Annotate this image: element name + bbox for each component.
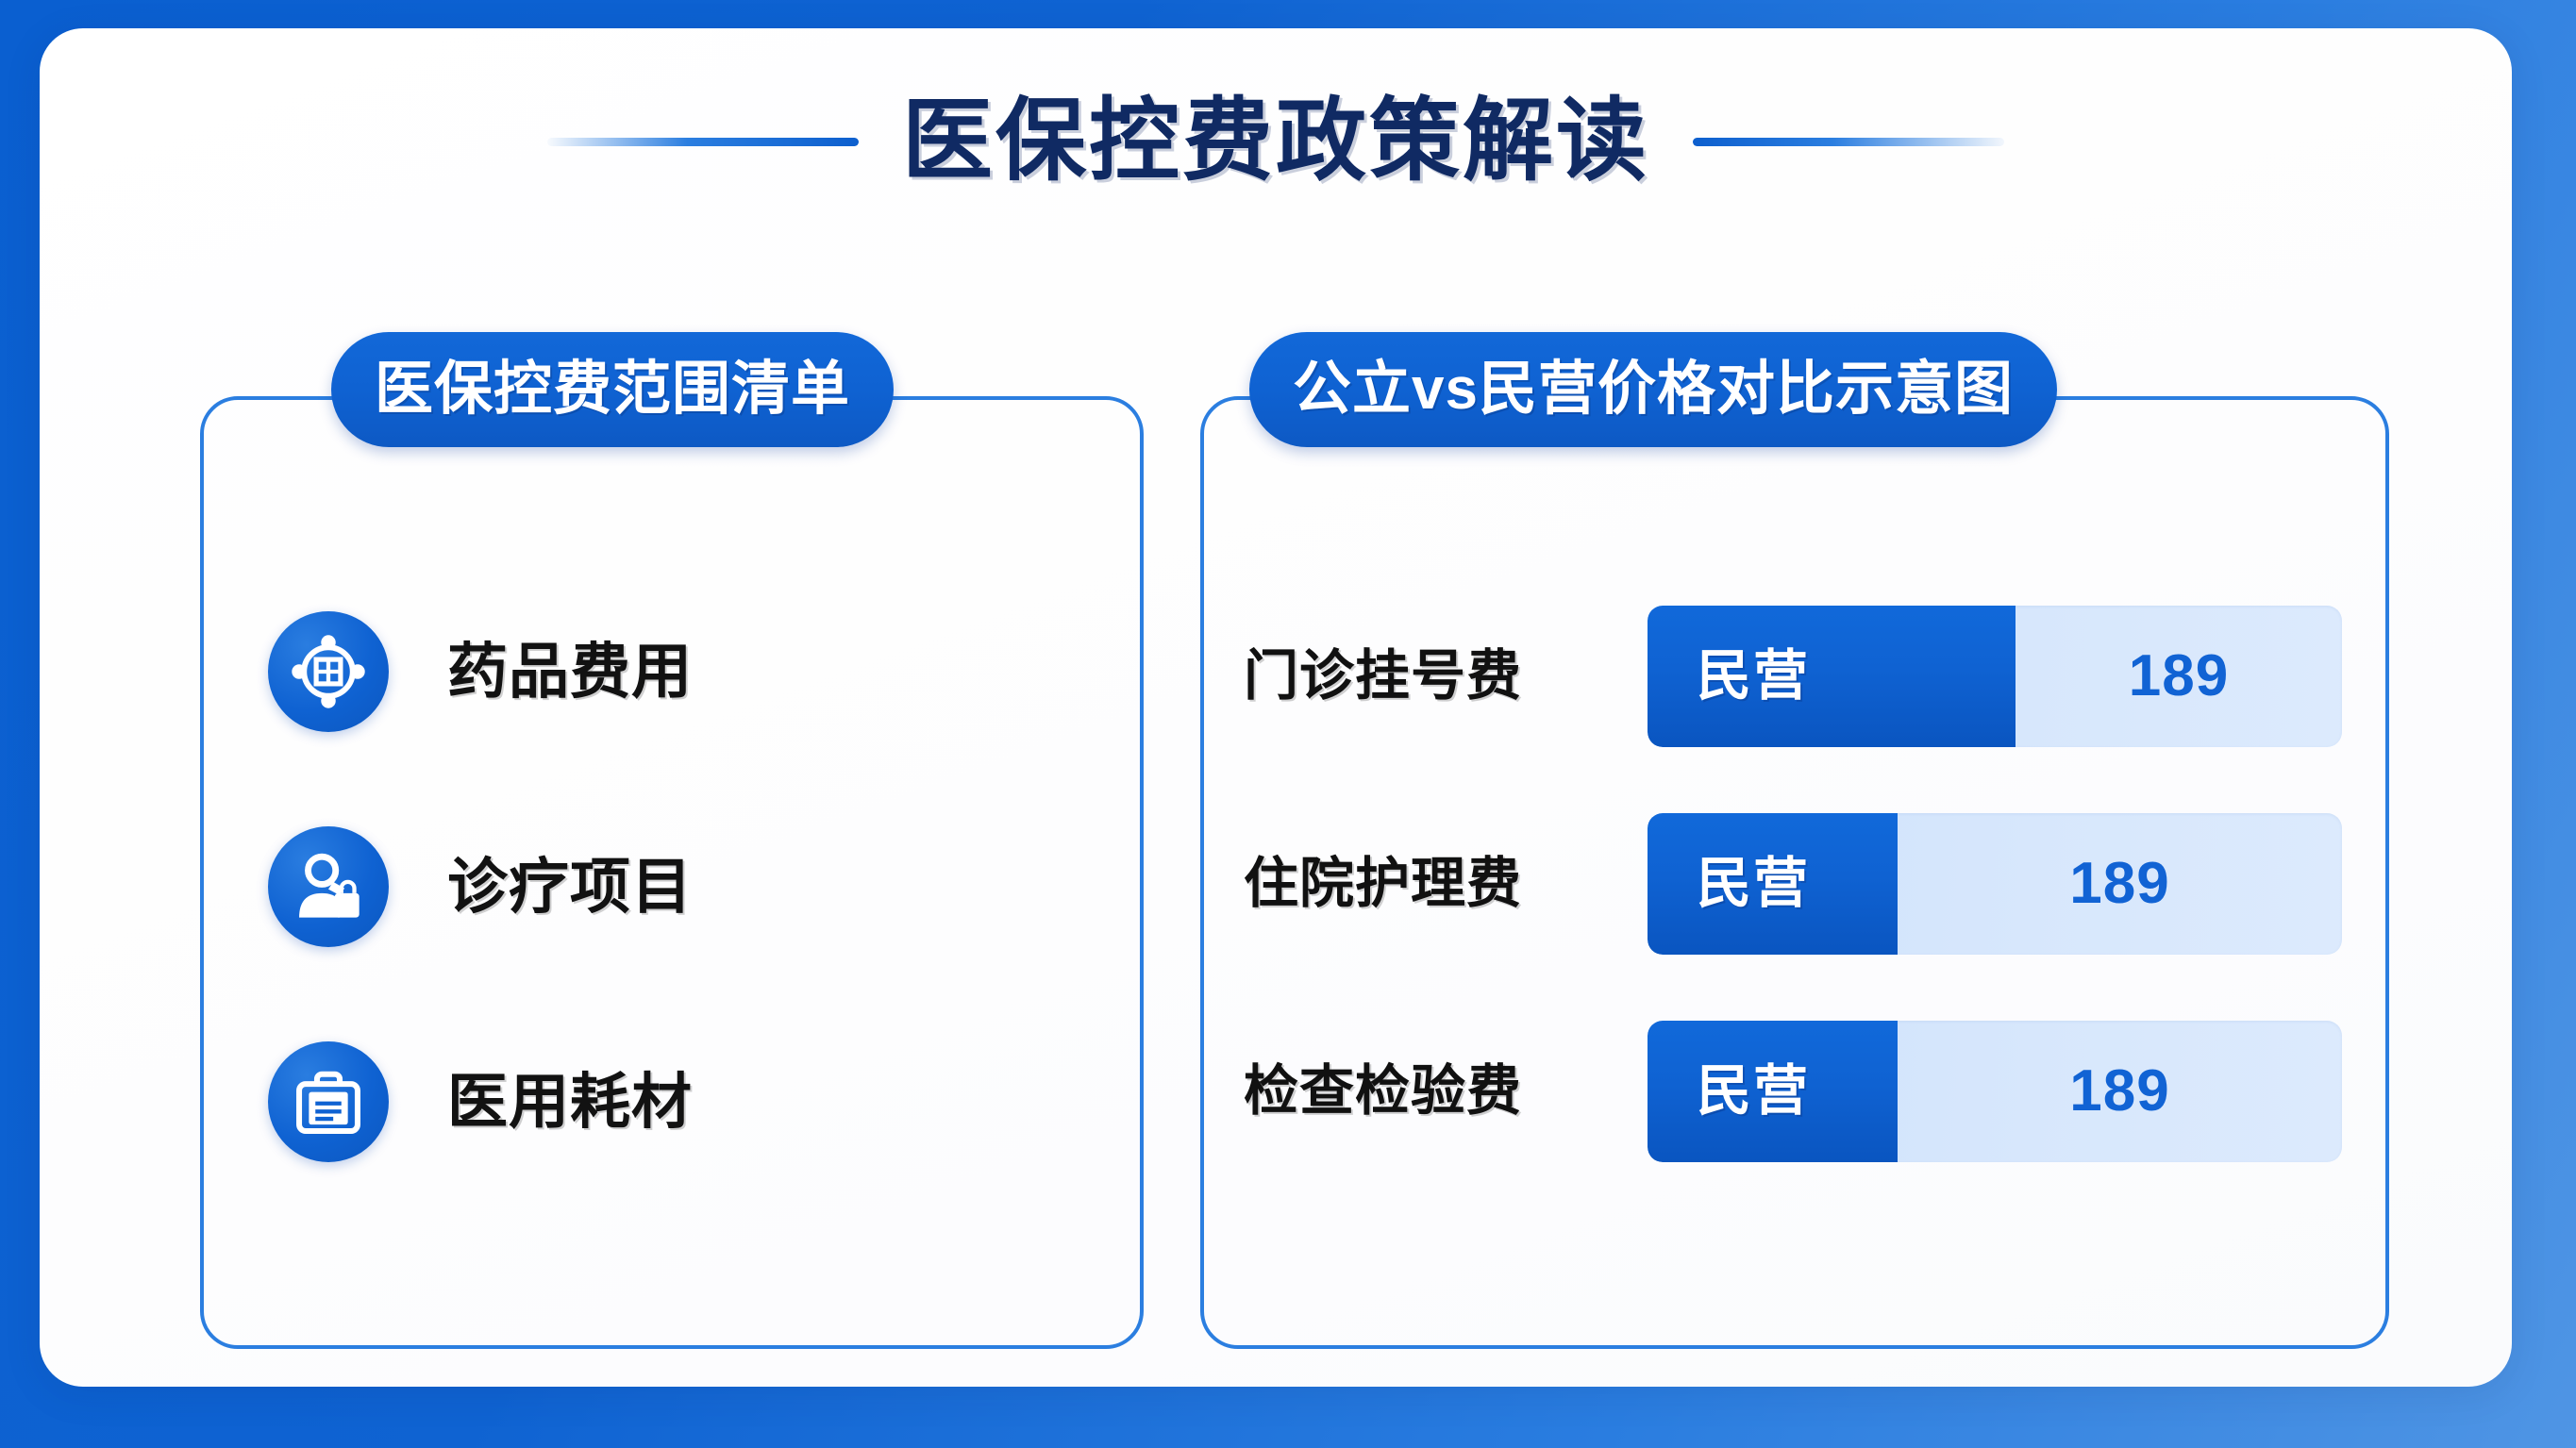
- person-medical-bag-icon: [268, 826, 389, 947]
- price-comparison-panel: 公立vs民营价格对比示意图 门诊挂号费 民营 189 住院护理费: [1200, 396, 2389, 1349]
- bar-fill: 民营: [1648, 1021, 1898, 1162]
- target-grid-icon: [268, 611, 389, 732]
- bar-value-label: 189: [1898, 813, 2342, 955]
- list-item[interactable]: 药品费用: [268, 611, 1140, 732]
- price-comparison-bar-chart: 门诊挂号费 民营 189 住院护理费 民营 189: [1204, 400, 2385, 1345]
- bar-value-label: 189: [2016, 606, 2342, 747]
- bar-category-label: 门诊挂号费: [1244, 649, 1621, 704]
- title-decoration-line-left: [547, 138, 859, 146]
- page-title: 医保控费政策解读: [902, 96, 1649, 187]
- infographic-canvas: 医保控费政策解读 医保控费范围清单: [0, 0, 2576, 1448]
- bar-track: 民营 189: [1648, 1021, 2342, 1162]
- list-item-label: 诊疗项目: [447, 857, 693, 917]
- scope-list: 药品费用 诊疗项目: [204, 400, 1140, 1345]
- bar-series-label: 民营: [1697, 649, 1810, 704]
- bar-category-label: 检查检验费: [1244, 1064, 1621, 1119]
- list-item-label: 药品费用: [447, 641, 693, 702]
- bar-track: 民营 189: [1648, 606, 2342, 747]
- bar-value-label: 189: [1898, 1021, 2342, 1162]
- bar-row[interactable]: 检查检验费 民营 189: [1244, 1021, 2342, 1162]
- title-decoration-line-right: [1693, 138, 2004, 146]
- bar-category-label: 住院护理费: [1244, 857, 1621, 911]
- bar-series-label: 民营: [1697, 1064, 1810, 1119]
- list-item[interactable]: 医用耗材: [268, 1041, 1140, 1162]
- medical-briefcase-icon: [268, 1041, 389, 1162]
- bar-fill: 民营: [1648, 813, 1898, 955]
- list-item-label: 医用耗材: [447, 1072, 693, 1132]
- bar-fill: 民营: [1648, 606, 2016, 747]
- content-card: 医保控费政策解读 医保控费范围清单: [40, 28, 2512, 1387]
- title-row: 医保控费政策解读: [40, 75, 2512, 208]
- bar-series-label: 民营: [1697, 857, 1810, 911]
- scope-list-panel: 医保控费范围清单: [200, 396, 1144, 1349]
- bar-row[interactable]: 住院护理费 民营 189: [1244, 813, 2342, 955]
- list-item[interactable]: 诊疗项目: [268, 826, 1140, 947]
- bar-track: 民营 189: [1648, 813, 2342, 955]
- bar-row[interactable]: 门诊挂号费 民营 189: [1244, 606, 2342, 747]
